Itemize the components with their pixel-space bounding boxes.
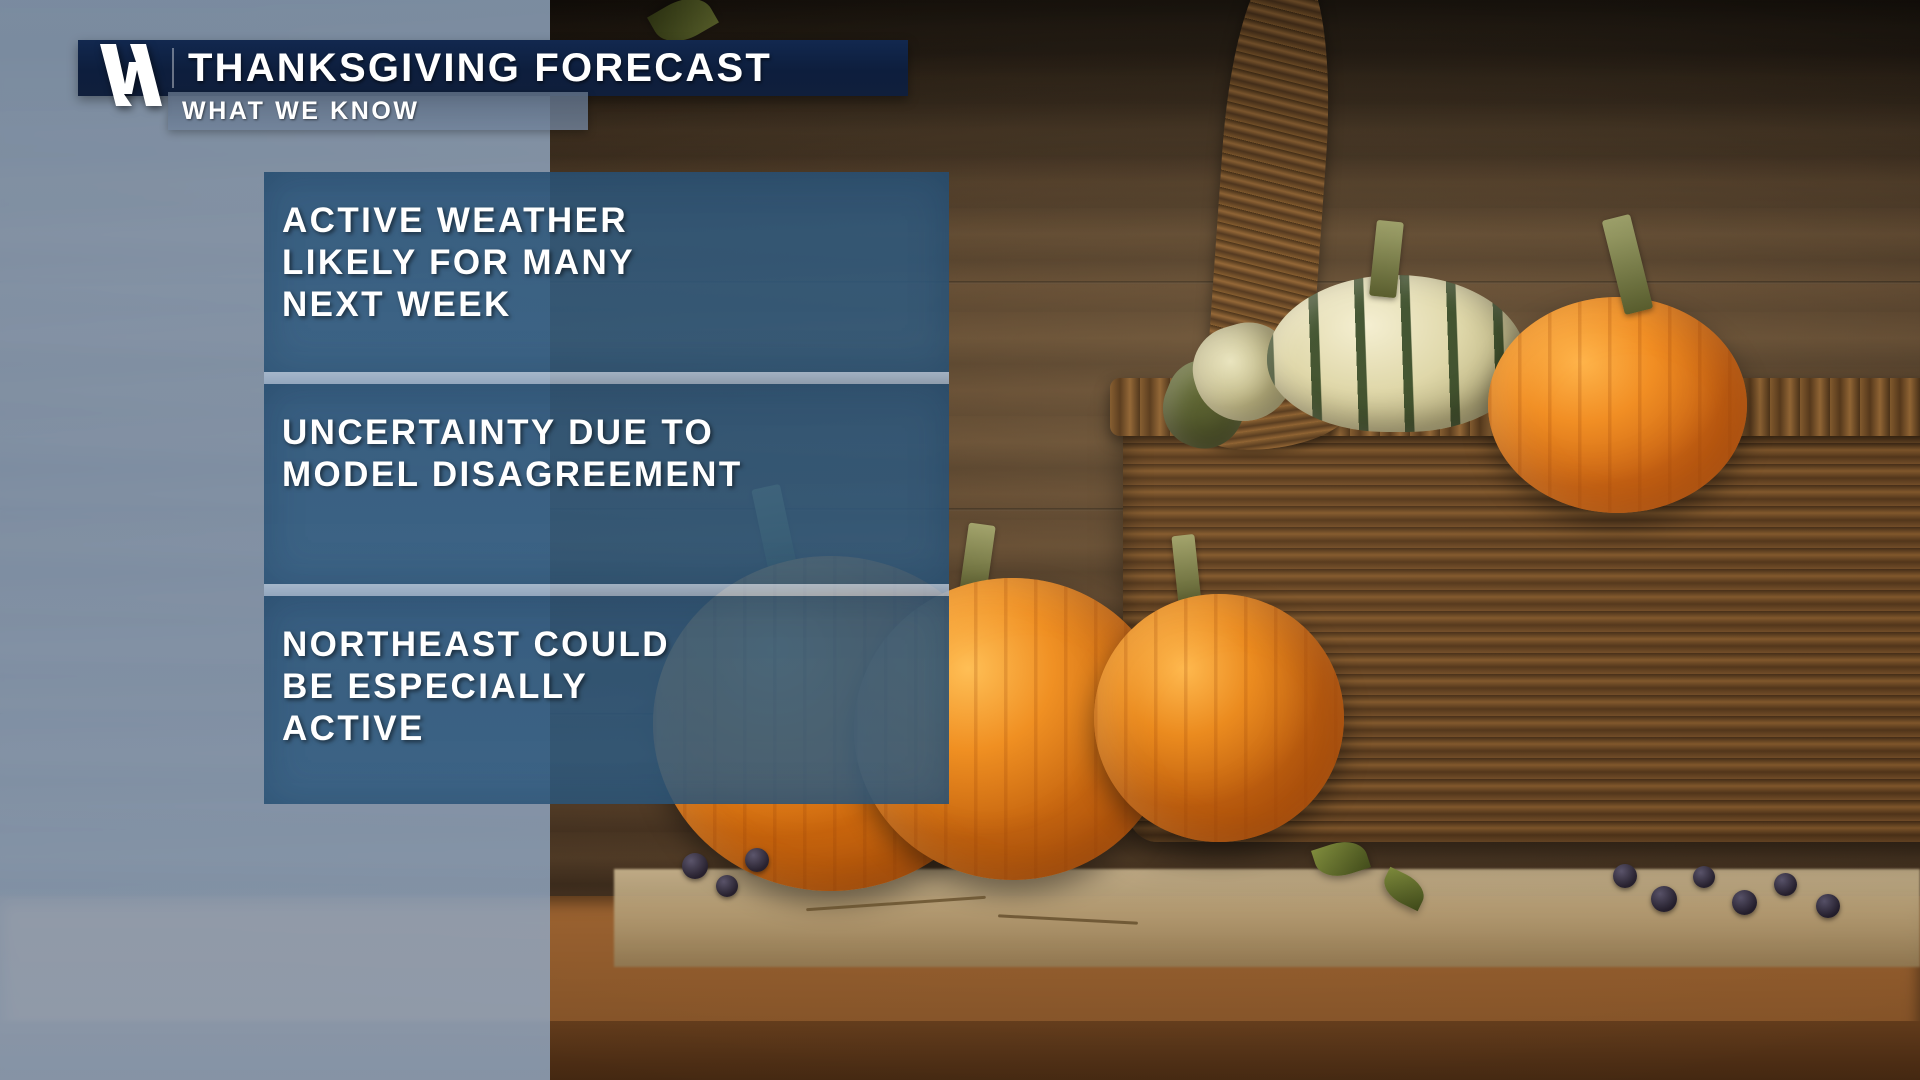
broadcast-graphic: THANKSGIVING FORECAST WHAT WE KNOW ACTIV… [0, 0, 1920, 1080]
weathernation-w-logo-icon [96, 36, 166, 114]
info-panel-active-weather: ACTIVE WEATHER LIKELY FOR MANY NEXT WEEK [264, 172, 949, 372]
logo-divider [172, 48, 174, 88]
page-subtitle: WHAT WE KNOW [182, 97, 420, 126]
title-bar: THANKSGIVING FORECAST [78, 40, 908, 96]
panel-line: NORTHEAST COULD [282, 624, 949, 666]
panel-line: BE ESPECIALLY [282, 666, 949, 708]
panel-line: UNCERTAINTY DUE TO [282, 412, 949, 454]
panel-line: MODEL DISAGREEMENT [282, 454, 949, 496]
info-panel-uncertainty: UNCERTAINTY DUE TO MODEL DISAGREEMENT [264, 384, 949, 584]
panel-divider [264, 372, 949, 384]
panel-line: NEXT WEEK [282, 284, 949, 326]
subtitle-bar: WHAT WE KNOW [168, 92, 588, 130]
info-panel-group: ACTIVE WEATHER LIKELY FOR MANY NEXT WEEK… [264, 172, 949, 804]
panel-line: ACTIVE WEATHER [282, 200, 949, 242]
page-title: THANKSGIVING FORECAST [188, 46, 772, 91]
panel-divider [264, 584, 949, 596]
panel-line: LIKELY FOR MANY [282, 242, 949, 284]
info-panel-northeast: NORTHEAST COULD BE ESPECIALLY ACTIVE [264, 596, 949, 804]
panel-line: ACTIVE [282, 708, 949, 750]
